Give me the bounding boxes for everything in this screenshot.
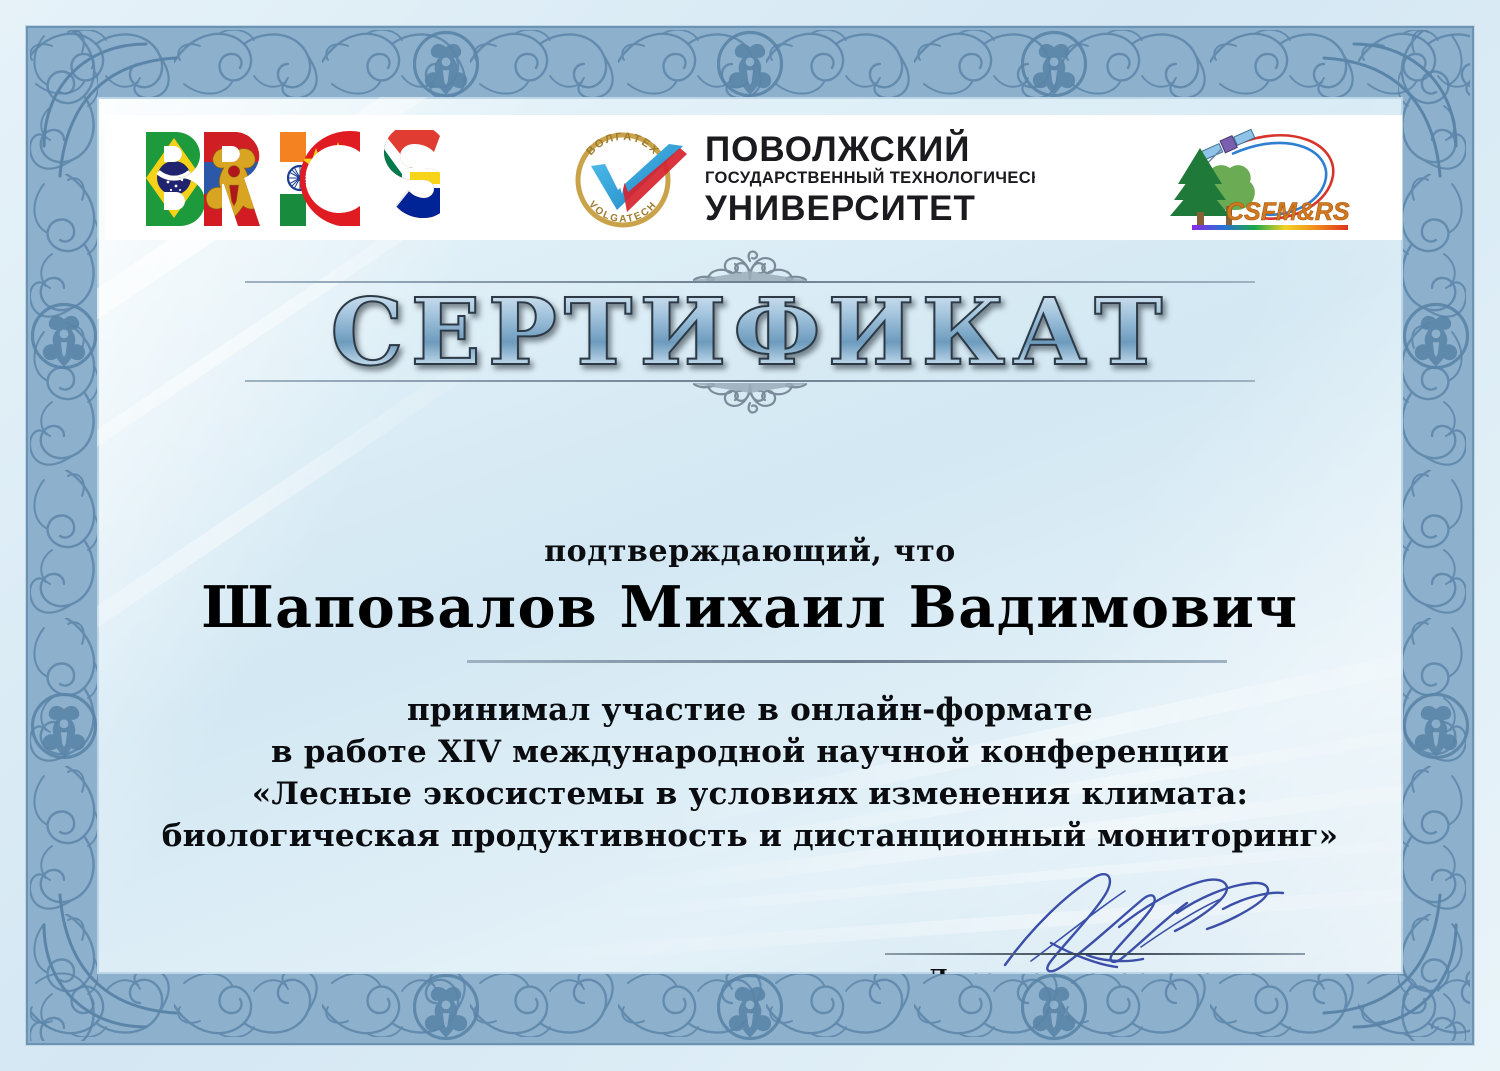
csfm-rs-label: CSFM&RS	[1226, 198, 1350, 226]
title-block: СЕРТИФИКАТ	[97, 247, 1403, 417]
svg-text:ГОСУДАРСТВЕННЫЙ ТЕХНОЛОГИЧЕСКИ: ГОСУДАРСТВЕННЫЙ ТЕХНОЛОГИЧЕСКИЙ	[705, 168, 1035, 187]
svg-text:ПОВОЛЖСКИЙ: ПОВОЛЖСКИЙ	[705, 129, 970, 169]
signature-block: Директор департамента научной и междунар…	[871, 877, 1319, 974]
page-title: СЕРТИФИКАТ	[97, 286, 1403, 380]
signatory-title: Директор департамента научной и междунар…	[871, 964, 1319, 974]
logo-strip: ВОЛГАТЕХ VOLGATECH ПОВОЛЖСКИЙ ГОСУДАРСТВ…	[105, 115, 1402, 240]
body-line-2: в работе XIV международной научной конфе…	[97, 731, 1403, 773]
body-line-3: «Лесные экосистемы в условиях изменения …	[97, 773, 1403, 815]
csfm-rs-tree-satellite-icon: CSFM&RS	[1166, 124, 1356, 232]
recipient-rule	[467, 660, 1227, 663]
body-text: принимал участие в онлайн-формате в рабо…	[97, 689, 1403, 857]
confirm-line: подтверждающий, что	[97, 534, 1403, 569]
signature-icon	[991, 869, 1321, 974]
signatory-title-line-1: Директор департамента научной	[871, 964, 1319, 974]
brics-logo	[133, 126, 463, 230]
certificate-body: ВОЛГАТЕХ VOLGATECH ПОВОЛЖСКИЙ ГОСУДАРСТВ…	[97, 97, 1403, 974]
signature-rule	[885, 953, 1305, 955]
body-line-1: принимал участие в онлайн-формате	[97, 689, 1403, 731]
brics-flags-icon	[138, 126, 458, 230]
flourish-top-icon	[600, 247, 900, 281]
flourish-bottom-icon	[600, 383, 900, 417]
certificate-page: ВОЛГАТЕХ VOLGATECH ПОВОЛЖСКИЙ ГОСУДАРСТВ…	[0, 0, 1500, 1071]
recipient-name: Шаповалов Михаил Вадимович	[97, 574, 1403, 641]
volgatech-emblem-icon: ВОЛГАТЕХ VOLGATECH ПОВОЛЖСКИЙ ГОСУДАРСТВ…	[565, 124, 1035, 232]
volgatech-logo: ВОЛГАТЕХ VOLGATECH ПОВОЛЖСКИЙ ГОСУДАРСТВ…	[463, 124, 1136, 232]
svg-text:УНИВЕРСИТЕТ: УНИВЕРСИТЕТ	[705, 189, 976, 228]
body-line-4: биологическая продуктивность и дистанцио…	[97, 815, 1403, 857]
csfm-rs-logo: CSFM&RS	[1136, 124, 1386, 232]
